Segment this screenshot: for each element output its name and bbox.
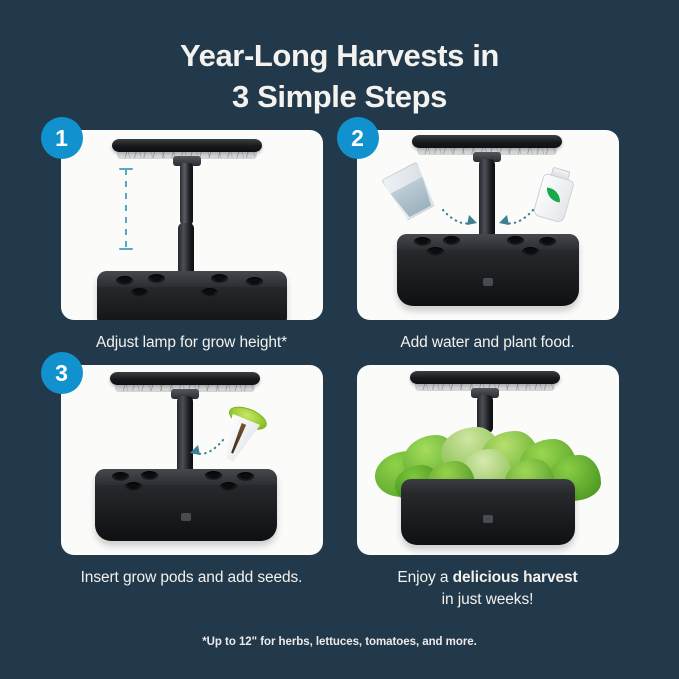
measurement-arrow-icon	[125, 169, 127, 249]
measurement-cap-bottom-icon	[119, 248, 133, 250]
steps-grid: 1	[0, 130, 679, 610]
step-illustration-2	[357, 130, 619, 320]
pod-hole	[201, 288, 218, 297]
brand-logo-icon	[483, 515, 493, 523]
footnote: *Up to 12" for herbs, lettuces, tomatoes…	[0, 636, 679, 648]
infographic-page: Year-Long Harvests in 3 Simple Steps 1	[0, 0, 679, 679]
illustration-stage-2	[357, 130, 619, 320]
result-caption-part2: in just weeks!	[442, 591, 534, 608]
pod-hole	[427, 247, 444, 256]
lamp-housing-icon	[110, 372, 260, 385]
step-illustration-3	[61, 365, 323, 555]
pod-hole	[539, 237, 556, 246]
page-title: Year-Long Harvests in 3 Simple Steps	[0, 36, 679, 118]
result-card: Enjoy a delicious harvest in just weeks!	[357, 365, 619, 610]
base-icon	[401, 479, 575, 545]
step-illustration-1	[61, 130, 323, 320]
lamp-housing-icon	[112, 139, 262, 152]
step-caption-2: Add water and plant food.	[357, 332, 619, 353]
illustration-stage-4	[357, 365, 619, 555]
pod-hole	[522, 247, 539, 256]
illustration-stage-1	[61, 130, 323, 320]
lamp-housing-icon	[410, 371, 560, 384]
brand-logo-icon	[483, 278, 493, 286]
dotted-arrow-icon	[187, 437, 227, 459]
step-card-3: 3	[61, 365, 323, 610]
step-card-1: 1	[61, 130, 323, 353]
illustration-stage-3	[61, 365, 323, 555]
pod-hole	[246, 277, 263, 286]
pod-hole	[414, 237, 431, 246]
page-title-line1: Year-Long Harvests in	[180, 38, 499, 73]
result-caption-bold: delicious harvest	[453, 569, 578, 586]
step-card-2: 2	[357, 130, 619, 353]
dotted-arrow-icon	[441, 206, 483, 230]
pod-hole	[148, 274, 165, 283]
page-title-line2: 3 Simple Steps	[0, 77, 679, 118]
step-badge-2: 2	[337, 117, 379, 159]
step-caption-3: Insert grow pods and add seeds.	[61, 567, 323, 588]
result-illustration	[357, 365, 619, 555]
result-caption-part1: Enjoy a	[397, 569, 452, 586]
step-caption-1: Adjust lamp for grow height*	[61, 332, 323, 353]
step-badge-3: 3	[41, 352, 83, 394]
water-glass-icon	[381, 161, 439, 222]
lamp-housing-icon	[412, 135, 562, 148]
dotted-arrow-icon	[493, 206, 535, 230]
step-badge-1: 1	[41, 117, 83, 159]
pod-hole	[131, 288, 148, 297]
pole-upper-icon	[180, 163, 193, 225]
pod-hole	[116, 276, 133, 285]
result-caption: Enjoy a delicious harvest in just weeks!	[357, 567, 619, 610]
pole-icon	[177, 396, 193, 474]
pod-hole	[507, 236, 524, 245]
steps-row-2: 3	[0, 365, 679, 610]
brand-logo-icon	[181, 513, 191, 521]
nutrient-bottle-icon	[532, 165, 575, 221]
pod-hole	[443, 236, 460, 245]
steps-row-1: 1	[0, 130, 679, 353]
pod-hole	[211, 274, 228, 283]
